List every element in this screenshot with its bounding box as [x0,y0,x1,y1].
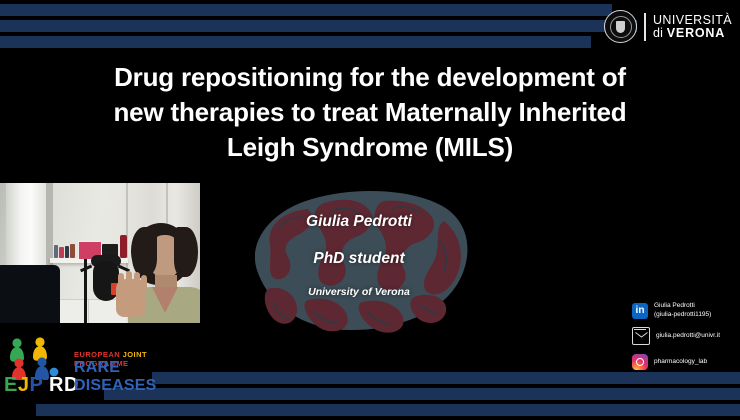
webcam-finger-3 [134,272,140,287]
email-address: giulia.pedrotti@univr.it [656,332,720,341]
webcam-finger-1 [118,273,124,288]
webcam-book-2 [59,247,64,258]
contact-row-instagram[interactable]: pharmacology_lab [632,354,736,370]
webcam-finger-4 [141,275,147,290]
decorative-bar-bottom-3 [36,404,740,416]
presenter-name: Giulia Pedrotti [244,213,474,231]
webcam-finger-2 [126,271,132,286]
webcam-book-1 [54,245,58,258]
decorative-bar-bottom-2 [104,388,740,400]
webcam-counter-seam [88,299,89,323]
ejp-letter-p: P [29,374,42,396]
presenter-role: PhD student [244,250,474,268]
linkedin-username: (giulia-pedrotti1195) [654,311,711,320]
instagram-handle-wrap: pharmacology_lab [654,358,707,367]
webcam-cabinet-seam-1 [126,183,128,279]
decorative-bar-top-1 [0,4,612,16]
ejp-person-green [10,338,24,361]
presenter-affiliation: University of Verona [244,286,474,298]
webcam-bottle-object [120,235,127,258]
webcam-person-hair-right [174,227,198,277]
slide-title-line-3: Leigh Syndrome (MILS) [0,130,740,165]
decorative-bar-top-2 [0,20,637,32]
linkedin-handle: Giulia Pedrotti (giulia-pedrotti1195) [654,302,711,319]
webcam-monitor [0,265,60,323]
presentation-slide: UNIVERSITÀ di VERONA Drug repositioning … [0,0,740,420]
university-name-prefix: di [653,26,667,40]
instagram-icon[interactable] [632,354,648,370]
presenter-info-overlay: Giulia Pedrotti PhD student University o… [244,185,474,335]
contact-list: in Giulia Pedrotti (giulia-pedrotti1195)… [632,302,736,376]
slide-title-line-2: new therapies to treat Maternally Inheri… [0,95,740,130]
ejp-subtitle-word-2: JOINT [123,350,147,359]
university-name-line2: di VERONA [653,27,732,40]
instagram-handle: pharmacology_lab [654,358,707,367]
slide-title-line-1: Drug repositioning for the development o… [0,60,740,95]
logo-divider [644,13,646,41]
ejp-person-yellow [33,337,47,360]
university-seal-icon [604,10,637,43]
ejp-subtitle-word-1: EUROPEAN [74,350,120,359]
envelope-glyph [635,332,648,341]
linkedin-icon[interactable]: in [632,303,648,319]
ejp-letter-e: E [4,374,18,396]
seal-shield-shape [616,21,625,33]
contact-row-linkedin[interactable]: in Giulia Pedrotti (giulia-pedrotti1195) [632,302,736,319]
email-icon[interactable] [632,327,650,345]
university-city: VERONA [667,26,725,40]
university-logo: UNIVERSITÀ di VERONA [604,10,732,43]
ejp-rd-logo: EJP RD EUROPEAN JOINT PROGRAMME RARE DIS… [4,336,154,398]
ejp-subtitle-main: RARE DISEASES [74,359,157,395]
ejp-letter-j: J [18,374,30,396]
decorative-bar-top-3 [0,36,591,48]
linkedin-display-name: Giulia Pedrotti [654,302,711,311]
webcam-person-hair-left [131,227,157,275]
webcam-mic-stand [84,259,87,323]
presenter-webcam-video[interactable] [0,183,200,323]
contact-row-email[interactable]: giulia.pedrotti@univr.it [632,327,736,345]
email-address-wrap: giulia.pedrotti@univr.it [656,332,720,341]
university-wordmark: UNIVERSITÀ di VERONA [653,14,732,40]
webcam-book-3 [65,246,69,258]
webcam-book-4 [70,244,75,258]
ejp-wordmark: EJP RD [4,374,79,397]
slide-title: Drug repositioning for the development o… [0,60,740,164]
